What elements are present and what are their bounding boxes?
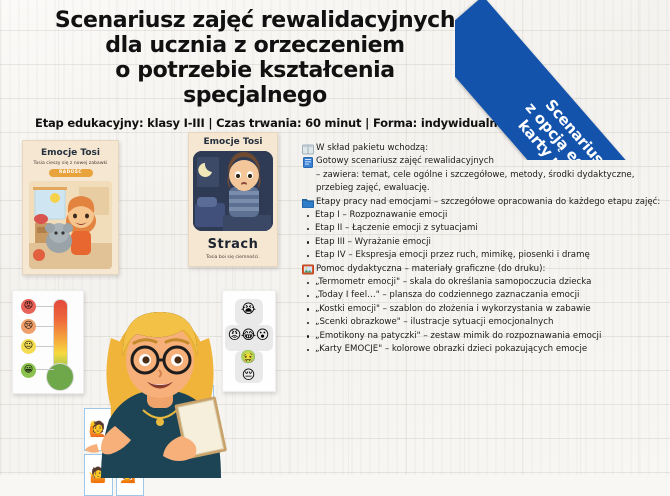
blue-page-icon (302, 157, 314, 168)
emotion-card-fear: Emocje Tosi (188, 132, 278, 267)
list-item: Etap III – Wyrażanie emocji (302, 236, 668, 249)
list-item: „Karty EMOCJE" – kolorowe obrazki dzieci… (302, 343, 668, 356)
emoji-sick: 🤢 (240, 349, 257, 366)
list-item: Etap IV – Ekspresja emocji przez ruch, m… (302, 249, 668, 262)
open-book-icon (302, 144, 314, 155)
content-block-text: – zawiera: temat, cele ogólne i szczegół… (316, 169, 668, 196)
list-item: Etap I – Rozpoznawanie emocji (302, 209, 668, 222)
content-block-text: Pomoc dydaktyczna – materiały graficzne … (316, 263, 668, 276)
emotion-thermometer-panel: 😡 😢 😐 😀 (12, 290, 84, 394)
card1-emotion-badge: RADOŚĆ (49, 169, 93, 177)
page-title: Scenariusz zajęć rewalidacyjnych dla ucz… (0, 8, 510, 108)
title-line-1: Scenariusz zajęć rewalidacyjnych (0, 8, 510, 33)
list-item: „Today I feel…" – plansza do codziennego… (302, 289, 668, 302)
materials-list: „Termometr emocji" – skala do określania… (302, 276, 668, 356)
thermometer-stem (53, 299, 68, 373)
card2-emotion-name: Strach (193, 237, 273, 252)
corner-ribbon: Scenariusz z opcją edycji karty pracy (455, 0, 670, 160)
content-block: Etapy pracy nad emocjami – szczegółowe o… (302, 196, 668, 209)
list-item: „Kostki emocji" – szablon do złożenia i … (302, 303, 668, 316)
card1-caption: Tosia cieszy się z nowej zabawki (27, 161, 114, 166)
thermometer-face-happy: 😀 (21, 363, 36, 378)
ribbon-banner: Scenariusz z opcją edycji karty pracy (455, 0, 670, 160)
thermometer-face-angry: 😡 (21, 299, 36, 314)
package-contents: W skład pakietu wchodzą: Gotowy scenariu… (302, 142, 668, 357)
emoji-surprised: 😮 (254, 327, 271, 344)
content-block-text: Etapy pracy nad emocjami – szczegółowe o… (316, 196, 668, 209)
thermometer-face-sad: 😢 (21, 319, 36, 334)
thermometer-bulb (46, 363, 74, 391)
spacer-icon (302, 170, 314, 181)
content-block: Pomoc dydaktyczna – materiały graficzne … (302, 263, 668, 276)
title-line-2: dla ucznia z orzeczeniem (0, 33, 510, 58)
illustration-area: Emocje Tosi Tosia cieszy się z nowej zab… (0, 130, 320, 475)
list-item: „Emotikony na patyczki" – zestaw mimik d… (302, 330, 668, 343)
thermometer-face-neutral: 😐 (21, 339, 36, 354)
stage-list: Etap I – Rozpoznawanie emocji Etap II – … (302, 209, 668, 263)
list-item: „Scenki obrazkowe" – ilustracje sytuacji… (302, 316, 668, 329)
card2-illustration (193, 151, 273, 231)
blue-folder-icon (302, 197, 314, 208)
card1-title: Emocje Tosi (27, 148, 114, 158)
list-item: „Termometr emocji" – skala do określania… (302, 276, 668, 289)
picture-frame-icon (302, 264, 314, 275)
card2-caption: Tosia boi się ciemności. (193, 255, 273, 260)
list-item: Etap II – Łączenie emocji z sytuacjami (302, 222, 668, 235)
card1-illustration (29, 181, 112, 269)
title-line-4: specjalnego (0, 83, 510, 108)
title-line-3: o potrzebie kształcenia (0, 58, 510, 83)
emoji-cry: 😭 (240, 301, 257, 318)
emoji-sad: 😔 (240, 367, 257, 384)
content-block: – zawiera: temat, cele ogólne i szczegół… (302, 169, 668, 196)
teacher-illustration (85, 298, 235, 478)
emotion-card-joy: Emocje Tosi Tosia cieszy się z nowej zab… (22, 140, 119, 275)
